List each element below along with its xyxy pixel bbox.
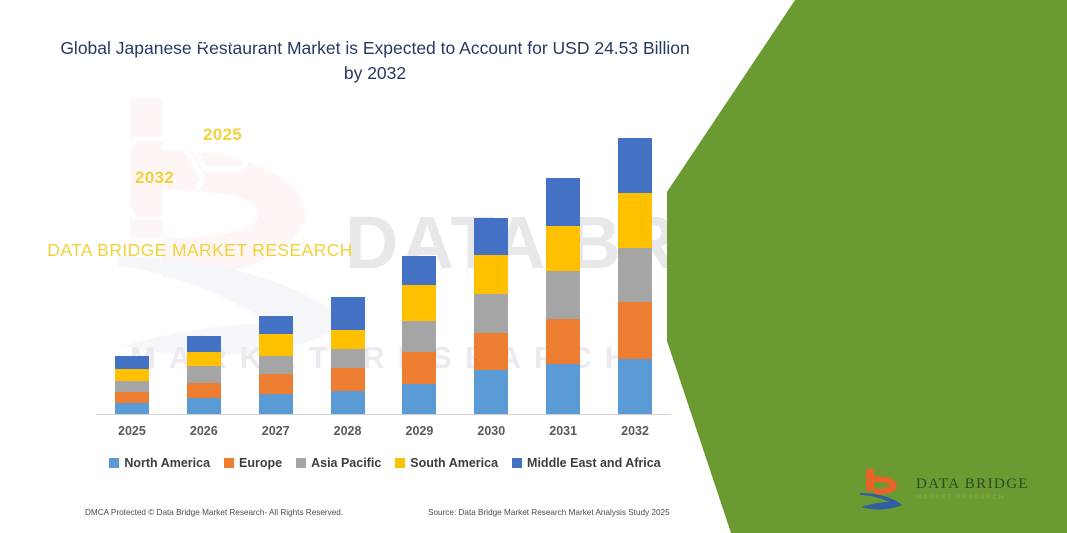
bar-segment xyxy=(402,384,436,414)
bar-segment xyxy=(402,256,436,285)
bar-segment xyxy=(187,366,221,383)
data-bridge-logo-icon xyxy=(858,467,906,511)
legend-label: North America xyxy=(124,456,210,470)
bar-segment xyxy=(115,356,149,369)
right-green-panel xyxy=(667,0,1067,533)
bar-segment xyxy=(331,349,365,368)
bar-segment xyxy=(259,356,293,374)
x-axis-tick-label: 2031 xyxy=(528,424,598,438)
footer-copyright: DMCA Protected © Data Bridge Market Rese… xyxy=(85,508,343,517)
x-axis-line xyxy=(96,414,671,415)
bar-segment xyxy=(259,394,293,414)
x-axis-tick-label: 2032 xyxy=(600,424,670,438)
legend-item[interactable]: Middle East and Africa xyxy=(512,456,661,470)
bar-segment xyxy=(187,398,221,414)
hexagon-label-2032: 2032 xyxy=(135,168,174,188)
bar-column xyxy=(331,297,365,414)
brand-logo: DATA BRIDGE MARKET RESEARCH xyxy=(858,467,1029,511)
x-axis-tick-label: 2028 xyxy=(313,424,383,438)
x-axis-tick-label: 2029 xyxy=(384,424,454,438)
legend-label: South America xyxy=(410,456,498,470)
logo-title: DATA BRIDGE xyxy=(916,477,1029,492)
x-axis-tick-label: 2027 xyxy=(241,424,311,438)
bar-segment xyxy=(115,381,149,392)
bar-segment xyxy=(115,403,149,414)
legend-item[interactable]: South America xyxy=(395,456,498,470)
footer-source: Source: Data Bridge Market Research Mark… xyxy=(428,508,670,517)
bar-segment xyxy=(474,218,508,255)
bar-segment xyxy=(474,255,508,294)
legend-swatch xyxy=(512,458,522,468)
bar-column xyxy=(402,256,436,414)
hexagon-icon xyxy=(105,95,285,220)
bar-segment xyxy=(115,392,149,403)
bar-segment xyxy=(115,369,149,381)
bar-column xyxy=(546,178,580,414)
legend-label: Europe xyxy=(239,456,282,470)
bar-segment xyxy=(331,391,365,414)
footer: DMCA Protected © Data Bridge Market Rese… xyxy=(0,508,700,524)
panel-title: Global Japanese Restaurant Market, By Re… xyxy=(30,8,370,53)
bar-segment xyxy=(546,178,580,226)
legend-swatch xyxy=(224,458,234,468)
bar-segment xyxy=(402,285,436,321)
bar-segment xyxy=(259,374,293,394)
bar-segment xyxy=(618,359,652,414)
bar-segment xyxy=(402,352,436,384)
legend-label: Asia Pacific xyxy=(311,456,381,470)
bar-column xyxy=(474,218,508,414)
legend-item[interactable]: Europe xyxy=(224,456,282,470)
bar-column xyxy=(618,138,652,414)
bar-column xyxy=(115,356,149,414)
legend-swatch xyxy=(296,458,306,468)
legend-swatch xyxy=(109,458,119,468)
logo-subtitle: MARKET RESEARCH xyxy=(916,495,1029,502)
x-axis-tick-label: 2026 xyxy=(169,424,239,438)
bar-segment xyxy=(187,383,221,398)
bar-segment xyxy=(618,193,652,248)
bar-segment xyxy=(259,334,293,356)
bar-segment xyxy=(187,352,221,366)
infographic-root: DATA BRIDGE MARKET RESEARCH Global Japan… xyxy=(0,0,1067,533)
bar-segment xyxy=(546,319,580,364)
legend-swatch xyxy=(395,458,405,468)
bar-segment xyxy=(259,316,293,334)
bar-segment xyxy=(546,364,580,414)
hexagon-label-2025: 2025 xyxy=(203,125,242,145)
bar-segment xyxy=(331,330,365,349)
bar-segment xyxy=(402,321,436,351)
bar-segment xyxy=(331,368,365,391)
bar-segment xyxy=(618,248,652,302)
x-axis-tick-label: 2030 xyxy=(456,424,526,438)
bar-segment xyxy=(546,226,580,271)
legend-item[interactable]: Asia Pacific xyxy=(296,456,381,470)
bar-column xyxy=(259,316,293,414)
bar-segment xyxy=(618,302,652,359)
bar-segment xyxy=(546,271,580,319)
x-axis-labels: 20252026202720282029203020312032 xyxy=(96,424,671,446)
chart-legend: North AmericaEuropeAsia PacificSouth Ame… xyxy=(96,456,674,470)
panel-brand-text: DATA BRIDGE MARKET RESEARCH xyxy=(40,238,360,263)
bar-segment xyxy=(331,297,365,330)
bar-segment xyxy=(474,333,508,369)
bar-segment xyxy=(474,294,508,333)
legend-item[interactable]: North America xyxy=(109,456,210,470)
hexagon-group: 2025 2032 xyxy=(105,95,285,220)
bar-segment xyxy=(187,336,221,352)
bar-column xyxy=(187,336,221,414)
legend-label: Middle East and Africa xyxy=(527,456,661,470)
x-axis-tick-label: 2025 xyxy=(97,424,167,438)
bar-segment xyxy=(474,370,508,414)
bar-segment xyxy=(618,138,652,193)
